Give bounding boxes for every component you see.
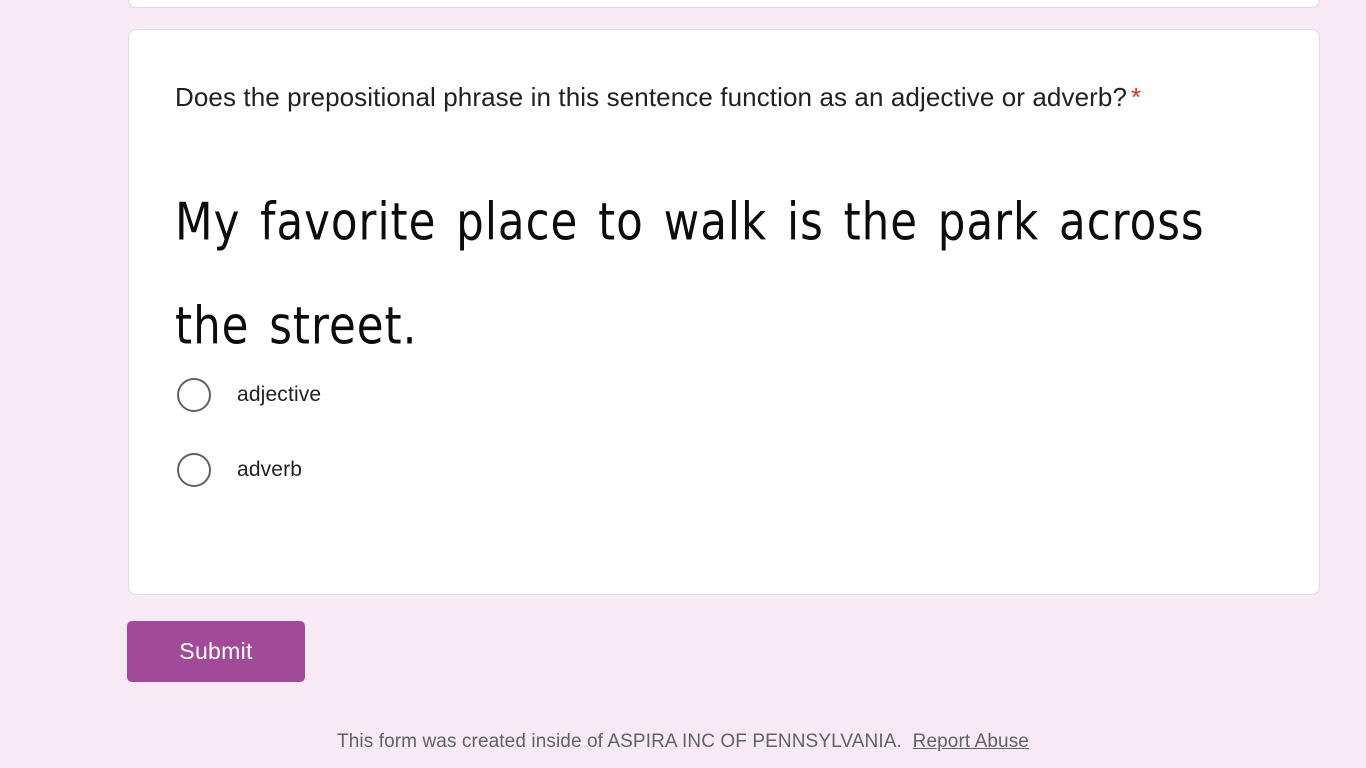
- google-form-page: Does the prepositional phrase in this se…: [0, 0, 1366, 768]
- radio-unselected-icon[interactable]: [177, 378, 211, 412]
- submit-button[interactable]: Submit: [127, 621, 305, 682]
- radio-option-label: adjective: [237, 381, 321, 409]
- form-footer: This form was created inside of ASPIRA I…: [0, 731, 1366, 753]
- report-abuse-link[interactable]: Report Abuse: [913, 731, 1029, 752]
- footer-notice-text: This form was created inside of ASPIRA I…: [337, 731, 902, 752]
- question-title: Does the prepositional phrase in this se…: [175, 76, 1185, 119]
- question-title-text: Does the prepositional phrase in this se…: [175, 82, 1127, 112]
- sentence-image-text: My favorite place to walk is the park ac…: [175, 171, 1249, 379]
- radio-unselected-icon[interactable]: [177, 453, 211, 487]
- required-asterisk: *: [1131, 82, 1141, 112]
- radio-option-label: adverb: [237, 456, 302, 484]
- previous-question-card-partial: [128, 0, 1320, 8]
- radio-option-group: adjective adverb: [175, 371, 1273, 494]
- radio-option-adverb[interactable]: adverb: [175, 446, 1273, 494]
- sentence-image: My favorite place to walk is the park ac…: [175, 171, 1275, 347]
- question-card: Does the prepositional phrase in this se…: [128, 29, 1320, 595]
